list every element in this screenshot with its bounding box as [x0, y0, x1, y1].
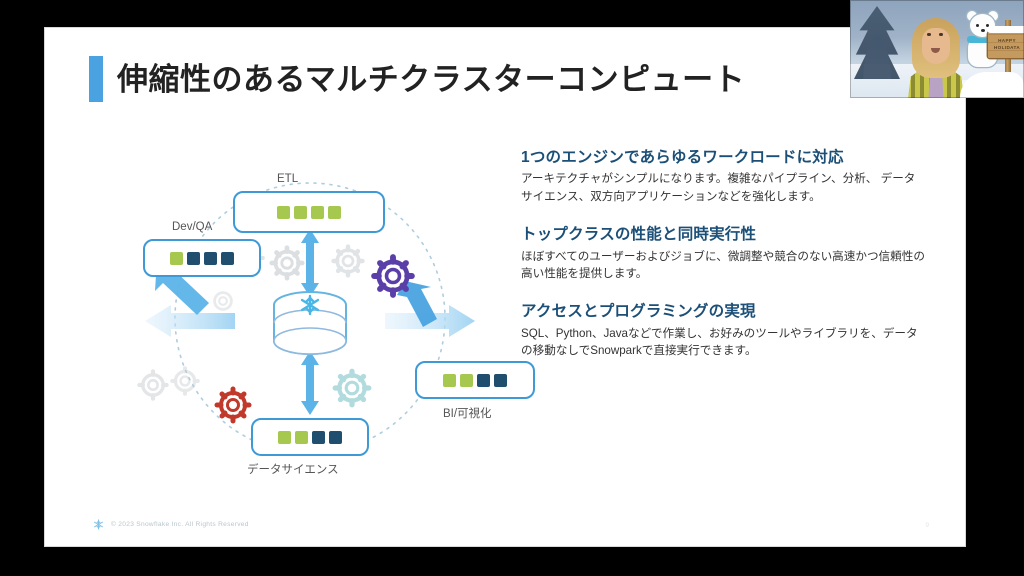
multi-cluster-diagram: ETL Dev/QA BI/可視化	[105, 133, 515, 488]
node-square	[460, 374, 473, 387]
node-square	[187, 252, 200, 265]
node-datascience[interactable]	[251, 418, 369, 456]
feature-heading: 1つのエンジンであらゆるワークロードに対応	[521, 148, 925, 167]
node-square	[494, 374, 507, 387]
node-square	[443, 374, 456, 387]
database-snowflake-icon	[274, 292, 346, 354]
feature-heading: アクセスとプログラミングの実現	[521, 302, 925, 321]
slide-title-row: 伸縮性のあるマルチクラスターコンピュート	[89, 56, 745, 102]
node-label-etl: ETL	[277, 173, 298, 185]
node-square	[170, 252, 183, 265]
gear-gray-icon	[139, 371, 166, 398]
gear-red-icon	[217, 389, 249, 421]
page-title: 伸縮性のあるマルチクラスターコンピュート	[117, 64, 745, 95]
gear-gray-icon	[272, 248, 302, 278]
node-devqa[interactable]	[143, 239, 261, 277]
node-label-bi: BI/可視化	[443, 405, 492, 421]
node-label-devqa: Dev/QA	[172, 221, 212, 233]
node-square	[328, 206, 341, 219]
webcam-frame	[850, 0, 1024, 98]
node-square	[329, 431, 342, 444]
webcam-overlay[interactable]: HAPPY HOLIDATA	[850, 0, 1024, 98]
node-bi[interactable]	[415, 361, 535, 399]
feature-list: 1つのエンジンであらゆるワークロードに対応 アーキテクチャがシンプルになります。…	[521, 148, 925, 379]
screen: 伸縮性のあるマルチクラスターコンピュート	[0, 0, 1024, 576]
gear-teal-icon	[335, 371, 369, 405]
feature-block: トップクラスの性能と同時実行性 ほぼすべてのユーザーおよびジョブに、微調整や競合…	[521, 225, 925, 282]
feature-block: 1つのエンジンであらゆるワークロードに対応 アーキテクチャがシンプルになります。…	[521, 148, 925, 205]
page-number: 9	[925, 522, 929, 529]
gear-gray-icon	[215, 293, 232, 310]
node-square	[277, 206, 290, 219]
gear-gray-icon	[334, 247, 363, 276]
snowflake-icon	[93, 519, 104, 530]
title-accent-bar	[89, 56, 103, 102]
node-square	[312, 431, 325, 444]
node-square	[477, 374, 490, 387]
node-etl[interactable]	[233, 191, 385, 233]
node-label-datascience: データサイエンス	[247, 461, 339, 477]
feature-body: アーキテクチャがシンプルになります。複雑なパイプライン、分析、 データサイエンス…	[521, 170, 925, 205]
node-square	[204, 252, 217, 265]
copyright-text: © 2023 Snowflake Inc. All Rights Reserve…	[111, 521, 249, 528]
feature-heading: トップクラスの性能と同時実行性	[521, 225, 925, 244]
node-square	[311, 206, 324, 219]
node-square	[278, 431, 291, 444]
node-square	[294, 206, 307, 219]
node-square	[295, 431, 308, 444]
feature-body: ほぼすべてのユーザーおよびジョブに、微調整や競合のない高速かつ信頼性の高い性能を…	[521, 248, 925, 283]
presentation-slide: 伸縮性のあるマルチクラスターコンピュート	[45, 28, 965, 546]
feature-body: SQL、Python、Javaなどで作業し、お好みのツールやライブラリを、データ…	[521, 325, 925, 360]
node-square	[221, 252, 234, 265]
center-datascience-arrow	[301, 351, 319, 415]
feature-block: アクセスとプログラミングの実現 SQL、Python、Javaなどで作業し、お好…	[521, 302, 925, 359]
slide-footer: © 2023 Snowflake Inc. All Rights Reserve…	[93, 519, 249, 530]
gear-purple-icon	[374, 257, 412, 295]
gear-gray-icon	[172, 368, 198, 394]
